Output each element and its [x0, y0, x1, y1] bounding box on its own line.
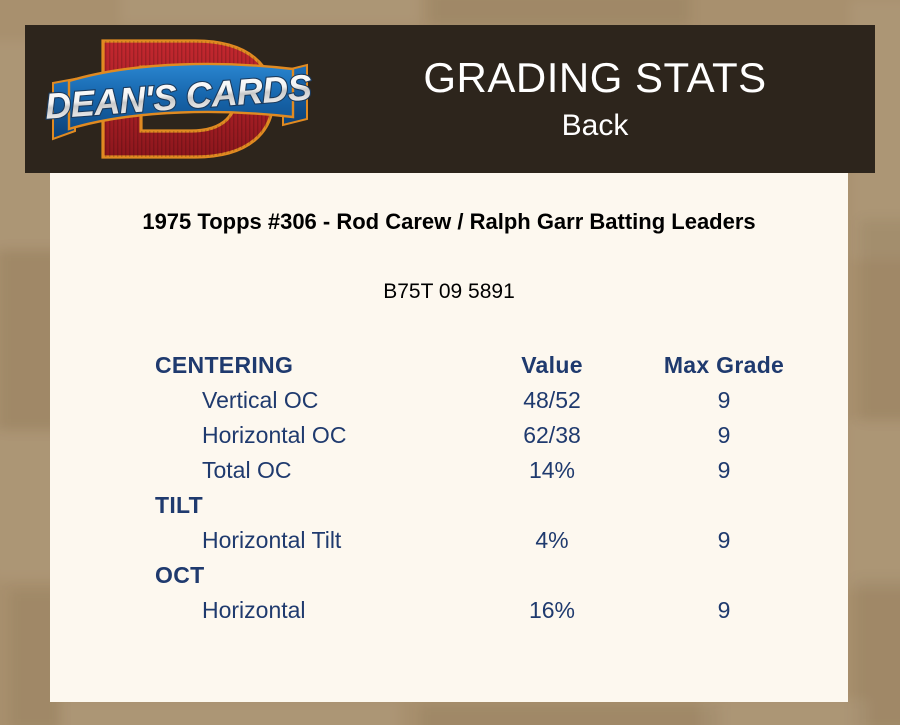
card-code: B75T 09 5891: [90, 278, 808, 306]
table-row: Vertical OC 48/52 9: [50, 384, 848, 419]
grading-stats-table: CENTERING Value Max Grade Vertical OC 48…: [50, 349, 848, 629]
stat-value: 62/38: [462, 419, 642, 452]
header-bar: DEAN'S CARDS GRADING STATS Back: [25, 25, 875, 173]
column-header-value: Value: [462, 349, 642, 382]
table-row: Total OC 14% 9: [50, 454, 848, 489]
table-section-header: OCT: [50, 559, 848, 594]
table-section-header: TILT: [50, 489, 848, 524]
stat-max-grade: 9: [634, 419, 814, 452]
stat-value: 48/52: [462, 384, 642, 417]
column-header-max-grade: Max Grade: [634, 349, 814, 382]
stat-value: 16%: [462, 594, 642, 627]
header-title-group: GRADING STATS Back: [315, 25, 875, 173]
table-row: Horizontal 16% 9: [50, 594, 848, 629]
page-title: GRADING STATS: [423, 53, 766, 103]
deans-cards-logo: DEAN'S CARDS: [45, 27, 313, 171]
stat-max-grade: 9: [634, 594, 814, 627]
page-subtitle: Back: [562, 107, 629, 145]
stat-max-grade: 9: [634, 524, 814, 557]
table-row: Horizontal Tilt 4% 9: [50, 524, 848, 559]
section-label: OCT: [155, 559, 555, 592]
content-panel: 1975 Topps #306 - Rod Carew / Ralph Garr…: [50, 173, 848, 702]
stat-value: 4%: [462, 524, 642, 557]
card-title: 1975 Topps #306 - Rod Carew / Ralph Garr…: [90, 207, 808, 237]
table-row: Horizontal OC 62/38 9: [50, 419, 848, 454]
stat-max-grade: 9: [634, 454, 814, 487]
table-header-row: CENTERING Value Max Grade: [50, 349, 848, 384]
stat-max-grade: 9: [634, 384, 814, 417]
stat-value: 14%: [462, 454, 642, 487]
section-label: TILT: [155, 489, 555, 522]
